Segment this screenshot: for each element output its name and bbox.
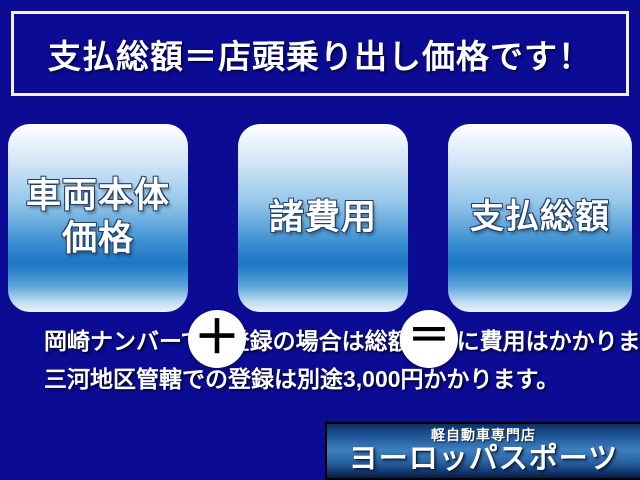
note-line-1: 岡崎ナンバーでの登録の場合は総額以上に費用はかかりません。 bbox=[44, 322, 640, 360]
shop-tagline: 軽自動車専門店 bbox=[431, 428, 536, 442]
total-payment-box: 支払総額 bbox=[448, 124, 632, 312]
note-line-2: 三河地区管轄での登録は別途3,000円かかります。 bbox=[44, 360, 640, 398]
fees-box: 諸費用 bbox=[238, 124, 408, 312]
plus-glyph: ＋ bbox=[194, 314, 240, 360]
vehicle-price-label-line1: 車両本体 bbox=[26, 175, 170, 218]
total-payment-label: 支払総額 bbox=[470, 197, 610, 238]
shop-logo-plate: 軽自動車専門店 ヨーロッパスポーツ bbox=[325, 422, 640, 480]
equals-glyph: ＝ bbox=[408, 315, 450, 357]
vehicle-price-label-line2: 価格 bbox=[26, 218, 170, 261]
price-explanation-poster: 支払総額＝店頭乗り出し価格です！ 車両本体 価格 ＋ 諸費用 ＝ 支払総額 岡崎… bbox=[0, 0, 640, 480]
shop-name: ヨーロッパスポーツ bbox=[349, 445, 618, 474]
price-formula-row: 車両本体 価格 ＋ 諸費用 ＝ 支払総額 bbox=[0, 124, 640, 312]
vehicle-price-box: 車両本体 価格 bbox=[8, 124, 188, 312]
registration-notes: 岡崎ナンバーでの登録の場合は総額以上に費用はかかりません。 三河地区管轄での登録… bbox=[0, 322, 640, 398]
plus-icon: ＋ bbox=[188, 310, 246, 368]
vehicle-price-label: 車両本体 価格 bbox=[20, 175, 176, 260]
headline-text: 支払総額＝店頭乗り出し価格です！ bbox=[48, 30, 592, 78]
equals-icon: ＝ bbox=[400, 310, 458, 368]
fees-label: 諸費用 bbox=[269, 197, 377, 240]
headline-banner: 支払総額＝店頭乗り出し価格です！ bbox=[11, 11, 629, 96]
